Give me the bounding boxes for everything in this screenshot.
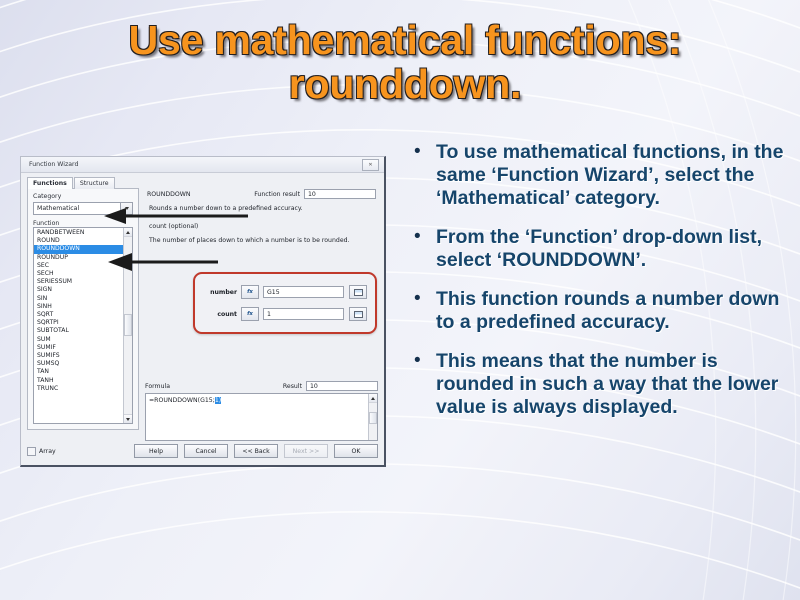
formula-expression: =ROUNDDOWN(G15;: [149, 397, 215, 404]
list-item[interactable]: SUMSQ: [34, 360, 123, 368]
list-item[interactable]: SUMIF: [34, 344, 123, 352]
dialog-titlebar: Function Wizard ✕: [21, 157, 384, 173]
count-field[interactable]: 1: [263, 308, 344, 320]
formula-selected-arg: 1): [215, 397, 221, 404]
category-label: Category: [33, 193, 133, 200]
argument-row-count: count fx 1: [203, 308, 367, 320]
list-item[interactable]: SQRT: [34, 311, 123, 319]
argument-title: count (optional): [149, 223, 378, 230]
function-selection-panel: Category Mathematical Function RANDBETWE…: [27, 188, 139, 430]
list-item[interactable]: SERIESSUM: [34, 278, 123, 286]
list-item[interactable]: RANDBETWEEN: [34, 229, 123, 237]
list-item[interactable]: SINH: [34, 303, 123, 311]
category-dropdown[interactable]: Mathematical: [33, 202, 133, 215]
list-item: • This function rounds a number down to …: [408, 288, 790, 334]
function-listbox[interactable]: RANDBETWEEN ROUND ROUNDDOWN ROUNDUP SEC …: [33, 227, 133, 424]
list-item[interactable]: TRUNC: [34, 385, 123, 393]
formula-header: Formula Result 10: [145, 381, 378, 391]
list-item[interactable]: TAN: [34, 368, 123, 376]
bullet-list: • To use mathematical functions, in the …: [408, 141, 790, 435]
function-list-scrollbar[interactable]: [123, 228, 132, 423]
dialog-title: Function Wizard: [24, 161, 362, 168]
argument-label-number: number: [203, 289, 241, 296]
title-line-1: Use mathematical functions:: [60, 18, 750, 62]
fx-icon[interactable]: fx: [241, 307, 259, 321]
checkbox-icon[interactable]: [27, 447, 36, 456]
result-label: Result: [283, 383, 302, 390]
array-label: Array: [39, 448, 56, 455]
back-button[interactable]: << Back: [234, 444, 278, 458]
list-item: • To use mathematical functions, in the …: [408, 141, 790, 210]
list-item[interactable]: SIGN: [34, 286, 123, 294]
bullet-marker-icon: •: [408, 141, 436, 163]
next-button: Next >>: [284, 444, 328, 458]
formula-text-content: =ROUNDDOWN(G15;1): [146, 394, 368, 440]
ok-button[interactable]: OK: [334, 444, 378, 458]
list-item[interactable]: ROUND: [34, 237, 123, 245]
list-item: • This means that the number is rounded …: [408, 350, 790, 419]
page-title: Use mathematical functions: rounddown.: [60, 18, 750, 107]
function-result-value: 10: [304, 189, 376, 199]
result-value: 10: [306, 381, 378, 391]
bullet-text: To use mathematical functions, in the sa…: [436, 141, 790, 210]
list-item[interactable]: SQRTPI: [34, 319, 123, 327]
tab-functions[interactable]: Functions: [27, 177, 73, 189]
fx-icon[interactable]: fx: [241, 285, 259, 299]
list-item-rounddown[interactable]: ROUNDDOWN: [34, 245, 123, 253]
dialog-buttons: Help Cancel << Back Next >> OK: [134, 444, 378, 458]
slide-canvas: Use mathematical functions: rounddown. •…: [0, 0, 800, 600]
scroll-up-icon[interactable]: [124, 228, 132, 237]
title-line-2: rounddown.: [60, 62, 750, 106]
function-header: ROUNDDOWN Function result 10: [145, 188, 378, 199]
function-wizard-screenshot: Function Wizard ✕ Functions Structure Ca…: [20, 156, 386, 467]
cell-picker-icon[interactable]: [349, 285, 367, 299]
chevron-down-icon[interactable]: [120, 203, 132, 214]
bullet-marker-icon: •: [408, 350, 436, 372]
argument-fields-highlight: number fx G15 count fx 1: [193, 272, 377, 334]
cancel-button[interactable]: Cancel: [184, 444, 228, 458]
list-item[interactable]: ROUNDUP: [34, 254, 123, 262]
list-item[interactable]: SUMIFS: [34, 352, 123, 360]
help-button[interactable]: Help: [134, 444, 178, 458]
list-item[interactable]: SUBTOTAL: [34, 327, 123, 335]
argument-row-number: number fx G15: [203, 286, 367, 298]
formula-label: Formula: [145, 383, 170, 390]
function-list-items: RANDBETWEEN ROUND ROUNDDOWN ROUNDUP SEC …: [34, 228, 123, 423]
tab-structure[interactable]: Structure: [74, 177, 115, 189]
list-item[interactable]: SUM: [34, 336, 123, 344]
function-description: Rounds a number down to a predefined acc…: [149, 205, 378, 212]
list-item: • From the ‘Function’ drop-down list, se…: [408, 226, 790, 272]
cell-picker-icon[interactable]: [349, 307, 367, 321]
bullet-text: This function rounds a number down to a …: [436, 288, 790, 334]
array-checkbox[interactable]: Array: [27, 447, 56, 456]
list-item[interactable]: SEC: [34, 262, 123, 270]
close-icon[interactable]: ✕: [362, 159, 379, 171]
category-value: Mathematical: [37, 205, 79, 212]
bullet-text: From the ‘Function’ drop-down list, sele…: [436, 226, 790, 272]
scrollbar-thumb[interactable]: [124, 314, 132, 336]
function-label: Function: [33, 220, 133, 227]
dialog-tabs: Functions Structure: [27, 177, 115, 189]
formula-input[interactable]: =ROUNDDOWN(G15;1): [145, 393, 378, 441]
bullet-marker-icon: •: [408, 226, 436, 248]
list-item[interactable]: SECH: [34, 270, 123, 278]
dialog-button-bar: Array Help Cancel << Back Next >> OK: [27, 443, 378, 459]
bullet-marker-icon: •: [408, 288, 436, 310]
number-field[interactable]: G15: [263, 286, 344, 298]
argument-label-count: count: [203, 311, 241, 318]
formula-scrollbar[interactable]: [368, 394, 377, 440]
bullet-text: This means that the number is rounded in…: [436, 350, 790, 419]
scroll-up-icon[interactable]: [369, 394, 377, 403]
scroll-down-icon[interactable]: [124, 414, 132, 423]
function-name: ROUNDDOWN: [147, 191, 190, 198]
scrollbar-thumb[interactable]: [369, 412, 377, 424]
dialog-body: Functions Structure Category Mathematica…: [21, 173, 384, 466]
function-result-label: Function result: [254, 191, 300, 198]
list-item[interactable]: SIN: [34, 295, 123, 303]
list-item[interactable]: TANH: [34, 377, 123, 385]
argument-description: The number of places down to which a num…: [149, 237, 378, 244]
